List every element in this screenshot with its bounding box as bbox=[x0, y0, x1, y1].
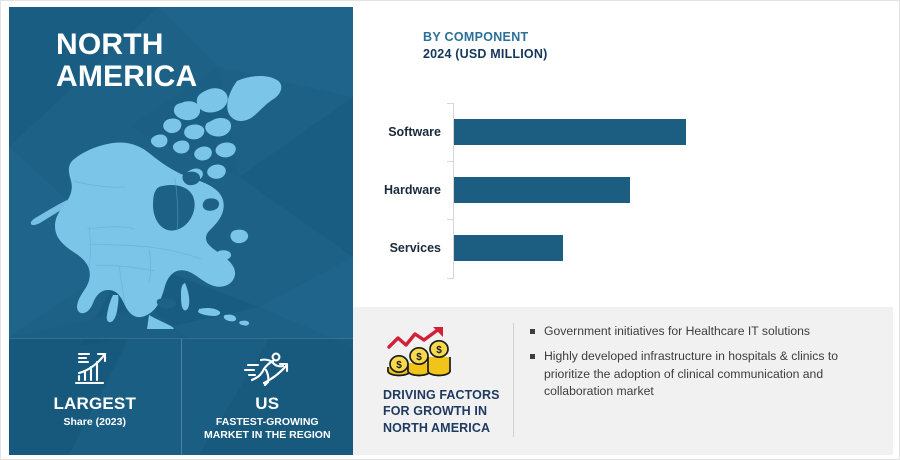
bar-services[interactable] bbox=[454, 235, 563, 261]
bar-row[interactable]: Hardware bbox=[369, 177, 709, 203]
chart-subtitle: 2024 (USD MILLION) bbox=[423, 46, 547, 63]
chart-header: BY COMPONENT 2024 (USD MILLION) bbox=[423, 29, 547, 63]
coins-growth-chart-icon: $ $ bbox=[383, 325, 455, 379]
svg-text:$: $ bbox=[416, 352, 422, 363]
north-america-map-icon bbox=[9, 69, 353, 329]
stat-value: LARGEST bbox=[53, 394, 136, 414]
region-title: NORTH AMERICA bbox=[56, 29, 197, 94]
factor-text: Government initiatives for Healthcare IT… bbox=[544, 323, 810, 340]
bullet-icon bbox=[530, 354, 535, 359]
stat-value: US bbox=[255, 394, 279, 414]
bar-software[interactable] bbox=[454, 119, 686, 145]
driving-factors-title: DRIVING FACTORS FOR GROWTH IN NORTH AMER… bbox=[383, 387, 500, 436]
bar-label: Software bbox=[369, 125, 447, 139]
bar-chart-growth-icon bbox=[73, 348, 117, 390]
stat-fastest-growing: US FASTEST-GROWING MARKET IN THE REGION bbox=[181, 339, 354, 455]
axis-tick bbox=[447, 278, 453, 279]
stat-largest-share: LARGEST Share (2023) bbox=[9, 339, 181, 455]
axis-tick bbox=[447, 161, 453, 162]
bar-hardware[interactable] bbox=[454, 177, 630, 203]
list-item: Government initiatives for Healthcare IT… bbox=[530, 323, 877, 340]
bar-label: Hardware bbox=[369, 183, 447, 197]
axis-tick bbox=[447, 103, 453, 104]
region-panel: NORTH AMERICA bbox=[9, 7, 353, 455]
svg-text:$: $ bbox=[396, 360, 402, 371]
stat-sublabel: FASTEST-GROWING MARKET IN THE REGION bbox=[204, 416, 331, 442]
component-bar-chart: Software Hardware Services bbox=[369, 97, 709, 285]
bar-label: Services bbox=[369, 241, 447, 255]
driving-factors-panel: $ $ bbox=[353, 307, 893, 455]
axis-tick bbox=[447, 219, 453, 220]
svg-text:$: $ bbox=[436, 345, 442, 356]
bar-row[interactable]: Software bbox=[369, 119, 709, 145]
driving-factors-heading-block: $ $ bbox=[353, 307, 513, 455]
bar-row[interactable]: Services bbox=[369, 235, 709, 261]
running-person-icon bbox=[242, 348, 292, 390]
bullet-icon bbox=[530, 329, 535, 334]
chart-title: BY COMPONENT bbox=[423, 29, 547, 46]
list-item: Highly developed infrastructure in hospi… bbox=[530, 348, 877, 400]
factor-text: Highly developed infrastructure in hospi… bbox=[544, 348, 874, 400]
stat-sublabel: Share (2023) bbox=[64, 416, 126, 429]
region-stats: LARGEST Share (2023) bbox=[9, 339, 353, 455]
regional-insight-infographic: NORTH AMERICA bbox=[0, 0, 900, 460]
driving-factors-list: Government initiatives for Healthcare IT… bbox=[514, 307, 893, 455]
